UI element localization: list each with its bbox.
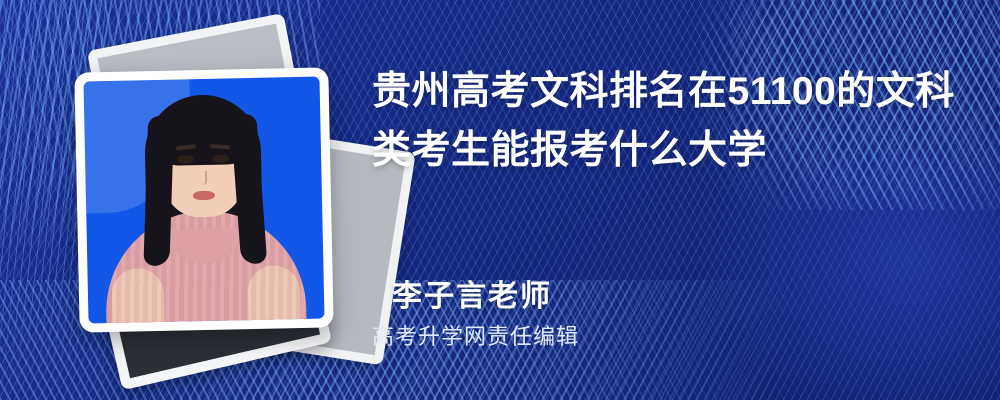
article-header-banner: 贵州高考文科排名在51100的文科 类考生能报考什么大学 李子言老师 高考升学网… [0,0,1000,400]
portrait-nose [200,171,207,185]
portrait-mouth [193,191,215,200]
page-title-line-1: 贵州高考文科排名在51100的文科 [372,62,952,121]
portrait-eye-left [177,155,194,163]
page-title-line-2: 类考生能报考什么大学 [372,121,952,180]
author-photo-frame [74,67,333,332]
portrait-arm-right [247,265,300,323]
portrait-illustration [83,77,324,324]
portrait-arm-left [111,268,164,324]
portrait-hair-front [154,104,251,166]
portrait-eye-right [212,154,229,162]
author-photo [83,77,324,324]
author-role: 高考升学网责任编辑 [372,319,579,351]
banner-content: 贵州高考文科排名在51100的文科 类考生能报考什么大学 李子言老师 高考升学网… [372,0,972,400]
page-title: 贵州高考文科排名在51100的文科 类考生能报考什么大学 [372,62,952,180]
author-name: 李子言老师 [392,271,552,315]
portrait-shoulders [104,209,306,324]
author-photo-stack [55,28,355,358]
